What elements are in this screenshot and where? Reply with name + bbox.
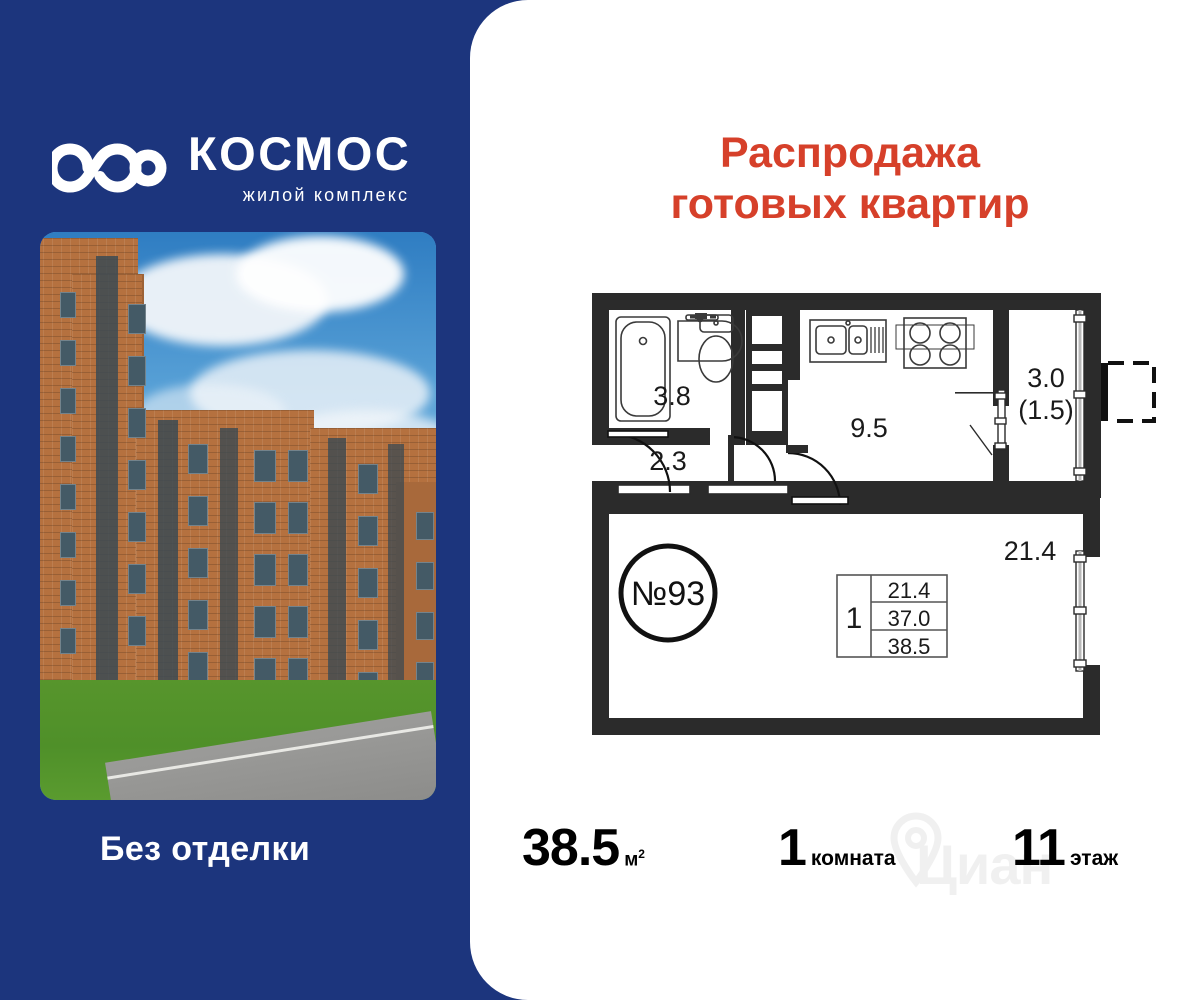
window: [288, 502, 308, 534]
stat-area: 38.5 м2: [522, 818, 645, 878]
window: [128, 304, 146, 334]
window: [128, 512, 146, 542]
window-living-room: [1074, 551, 1086, 671]
window: [254, 450, 276, 482]
label-balcony-counted: (1.5): [1018, 395, 1074, 425]
window: [358, 568, 378, 598]
window: [358, 516, 378, 546]
window: [60, 388, 76, 414]
window: [60, 340, 76, 366]
balcony-stack: [158, 420, 178, 700]
window: [60, 628, 76, 654]
infinity-icon: [52, 132, 172, 204]
window: [288, 554, 308, 586]
ac-unit-placeholder: [1101, 363, 1154, 421]
window: [188, 652, 208, 682]
window: [128, 356, 146, 386]
window: [288, 606, 308, 638]
brand-subtitle: жилой комплекс: [188, 185, 411, 206]
window: [358, 620, 378, 650]
window: [188, 444, 208, 474]
apartment-number-text: №93: [631, 575, 705, 613]
finish-caption: Без отделки: [100, 830, 310, 869]
window: [254, 554, 276, 586]
window: [188, 496, 208, 526]
window: [60, 580, 76, 606]
window: [254, 502, 276, 534]
brand-text: КОСМОС жилой комплекс: [188, 130, 411, 206]
window: [188, 600, 208, 630]
listing-card: КОСМОС жилой комплекс: [0, 0, 1200, 1000]
stat-floor: 11 этаж: [1012, 818, 1118, 878]
table-living-area: 21.4: [888, 578, 931, 603]
table-rooms-count: 1: [846, 602, 863, 635]
building-photo: [40, 232, 436, 800]
label-balcony-area: 3.0: [1027, 363, 1065, 393]
window: [416, 512, 434, 540]
stat-rooms-value: 1: [778, 818, 806, 878]
window: [128, 460, 146, 490]
window: [254, 606, 276, 638]
area-summary-table: 1 21.4 37.0 38.5: [837, 575, 947, 659]
label-living-area: 21.4: [1004, 536, 1057, 566]
floor-plan-drawing: 3.8 2.3 9.5 3.0 (1.5) 21.4 №93 1 21.4 3: [500, 285, 1160, 765]
balcony-stack: [220, 428, 238, 700]
stat-floor-value: 11: [1012, 818, 1065, 878]
label-bathroom-area: 3.8: [653, 381, 691, 411]
window: [128, 616, 146, 646]
balcony-stack: [388, 444, 404, 700]
stat-rooms-unit: комната: [811, 847, 896, 871]
window: [358, 464, 378, 494]
window: [416, 612, 434, 640]
brand-logo: КОСМОС жилой комплекс: [52, 118, 452, 218]
window-balcony: [1074, 310, 1086, 481]
balcony-stack: [328, 438, 346, 700]
window: [60, 292, 76, 318]
window: [416, 562, 434, 590]
window: [128, 408, 146, 438]
promo-headline: Распродажа готовых квартир: [600, 128, 1100, 229]
cloud: [236, 236, 404, 312]
label-kitchen-area: 9.5: [850, 413, 888, 443]
stat-floor-unit: этаж: [1070, 847, 1118, 871]
stat-area-unit: м2: [624, 847, 645, 871]
brand-name: КОСМОС: [188, 130, 411, 177]
window: [60, 532, 76, 558]
window: [188, 548, 208, 578]
stat-area-value: 38.5: [522, 818, 619, 878]
window: [60, 484, 76, 510]
promo-headline-line1: Распродажа: [600, 128, 1100, 179]
window: [60, 436, 76, 462]
floor-plan: 3.8 2.3 9.5 3.0 (1.5) 21.4 №93 1 21.4 3: [500, 285, 1160, 765]
apartment-number-badge: №93: [621, 546, 715, 640]
promo-headline-line2: готовых квартир: [600, 179, 1100, 230]
listing-stats: 38.5 м2 1 комната 11 этаж: [500, 818, 1180, 896]
window: [288, 450, 308, 482]
stat-rooms: 1 комната: [778, 818, 896, 878]
balcony-stack: [96, 256, 118, 700]
label-hallway-area: 2.3: [649, 446, 687, 476]
table-area-without-balcony: 37.0: [888, 606, 931, 631]
table-total-area: 38.5: [888, 634, 931, 659]
window: [128, 564, 146, 594]
